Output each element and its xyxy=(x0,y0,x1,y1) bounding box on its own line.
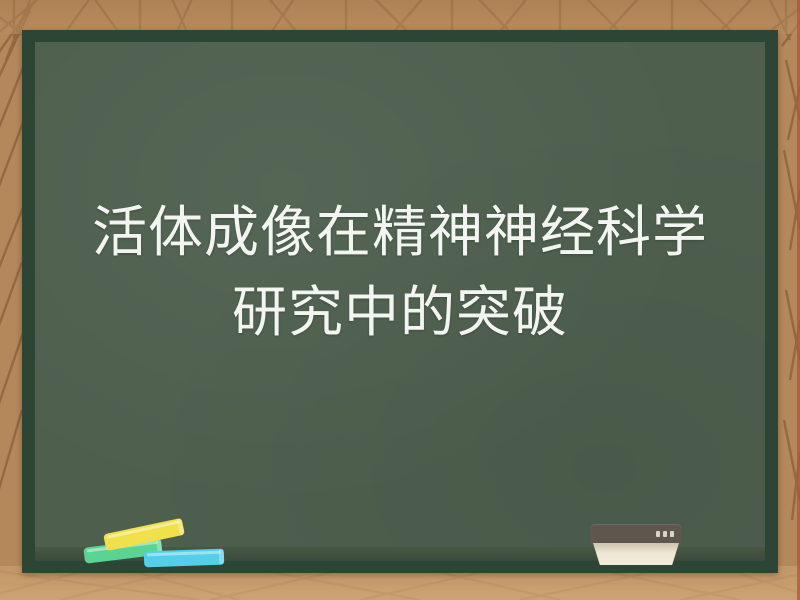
board-title: 活体成像在精神神经科学 研究中的突破 xyxy=(35,192,765,352)
eraser-dot xyxy=(663,531,667,537)
title-line-2: 研究中的突破 xyxy=(59,272,741,352)
chalk-blue[interactable] xyxy=(144,549,225,568)
eraser-dots-icon xyxy=(656,531,674,537)
eraser-dot xyxy=(670,531,674,537)
eraser-handle xyxy=(590,524,682,544)
blackboard-surface: 活体成像在精神神经科学 研究中的突破 xyxy=(35,42,765,561)
blackboard-frame: 活体成像在精神神经科学 研究中的突破 xyxy=(22,30,778,573)
eraser-felt-pad xyxy=(593,543,679,565)
wood-top-shadow xyxy=(0,0,800,34)
eraser-dot xyxy=(656,531,660,537)
chalk-highlight xyxy=(147,551,221,557)
slide-stage: 活体成像在精神神经科学 研究中的突破 xyxy=(0,0,800,600)
board-eraser[interactable] xyxy=(590,524,682,568)
title-line-1: 活体成像在精神神经科学 xyxy=(59,192,741,272)
chalk-end-cap xyxy=(219,549,225,565)
